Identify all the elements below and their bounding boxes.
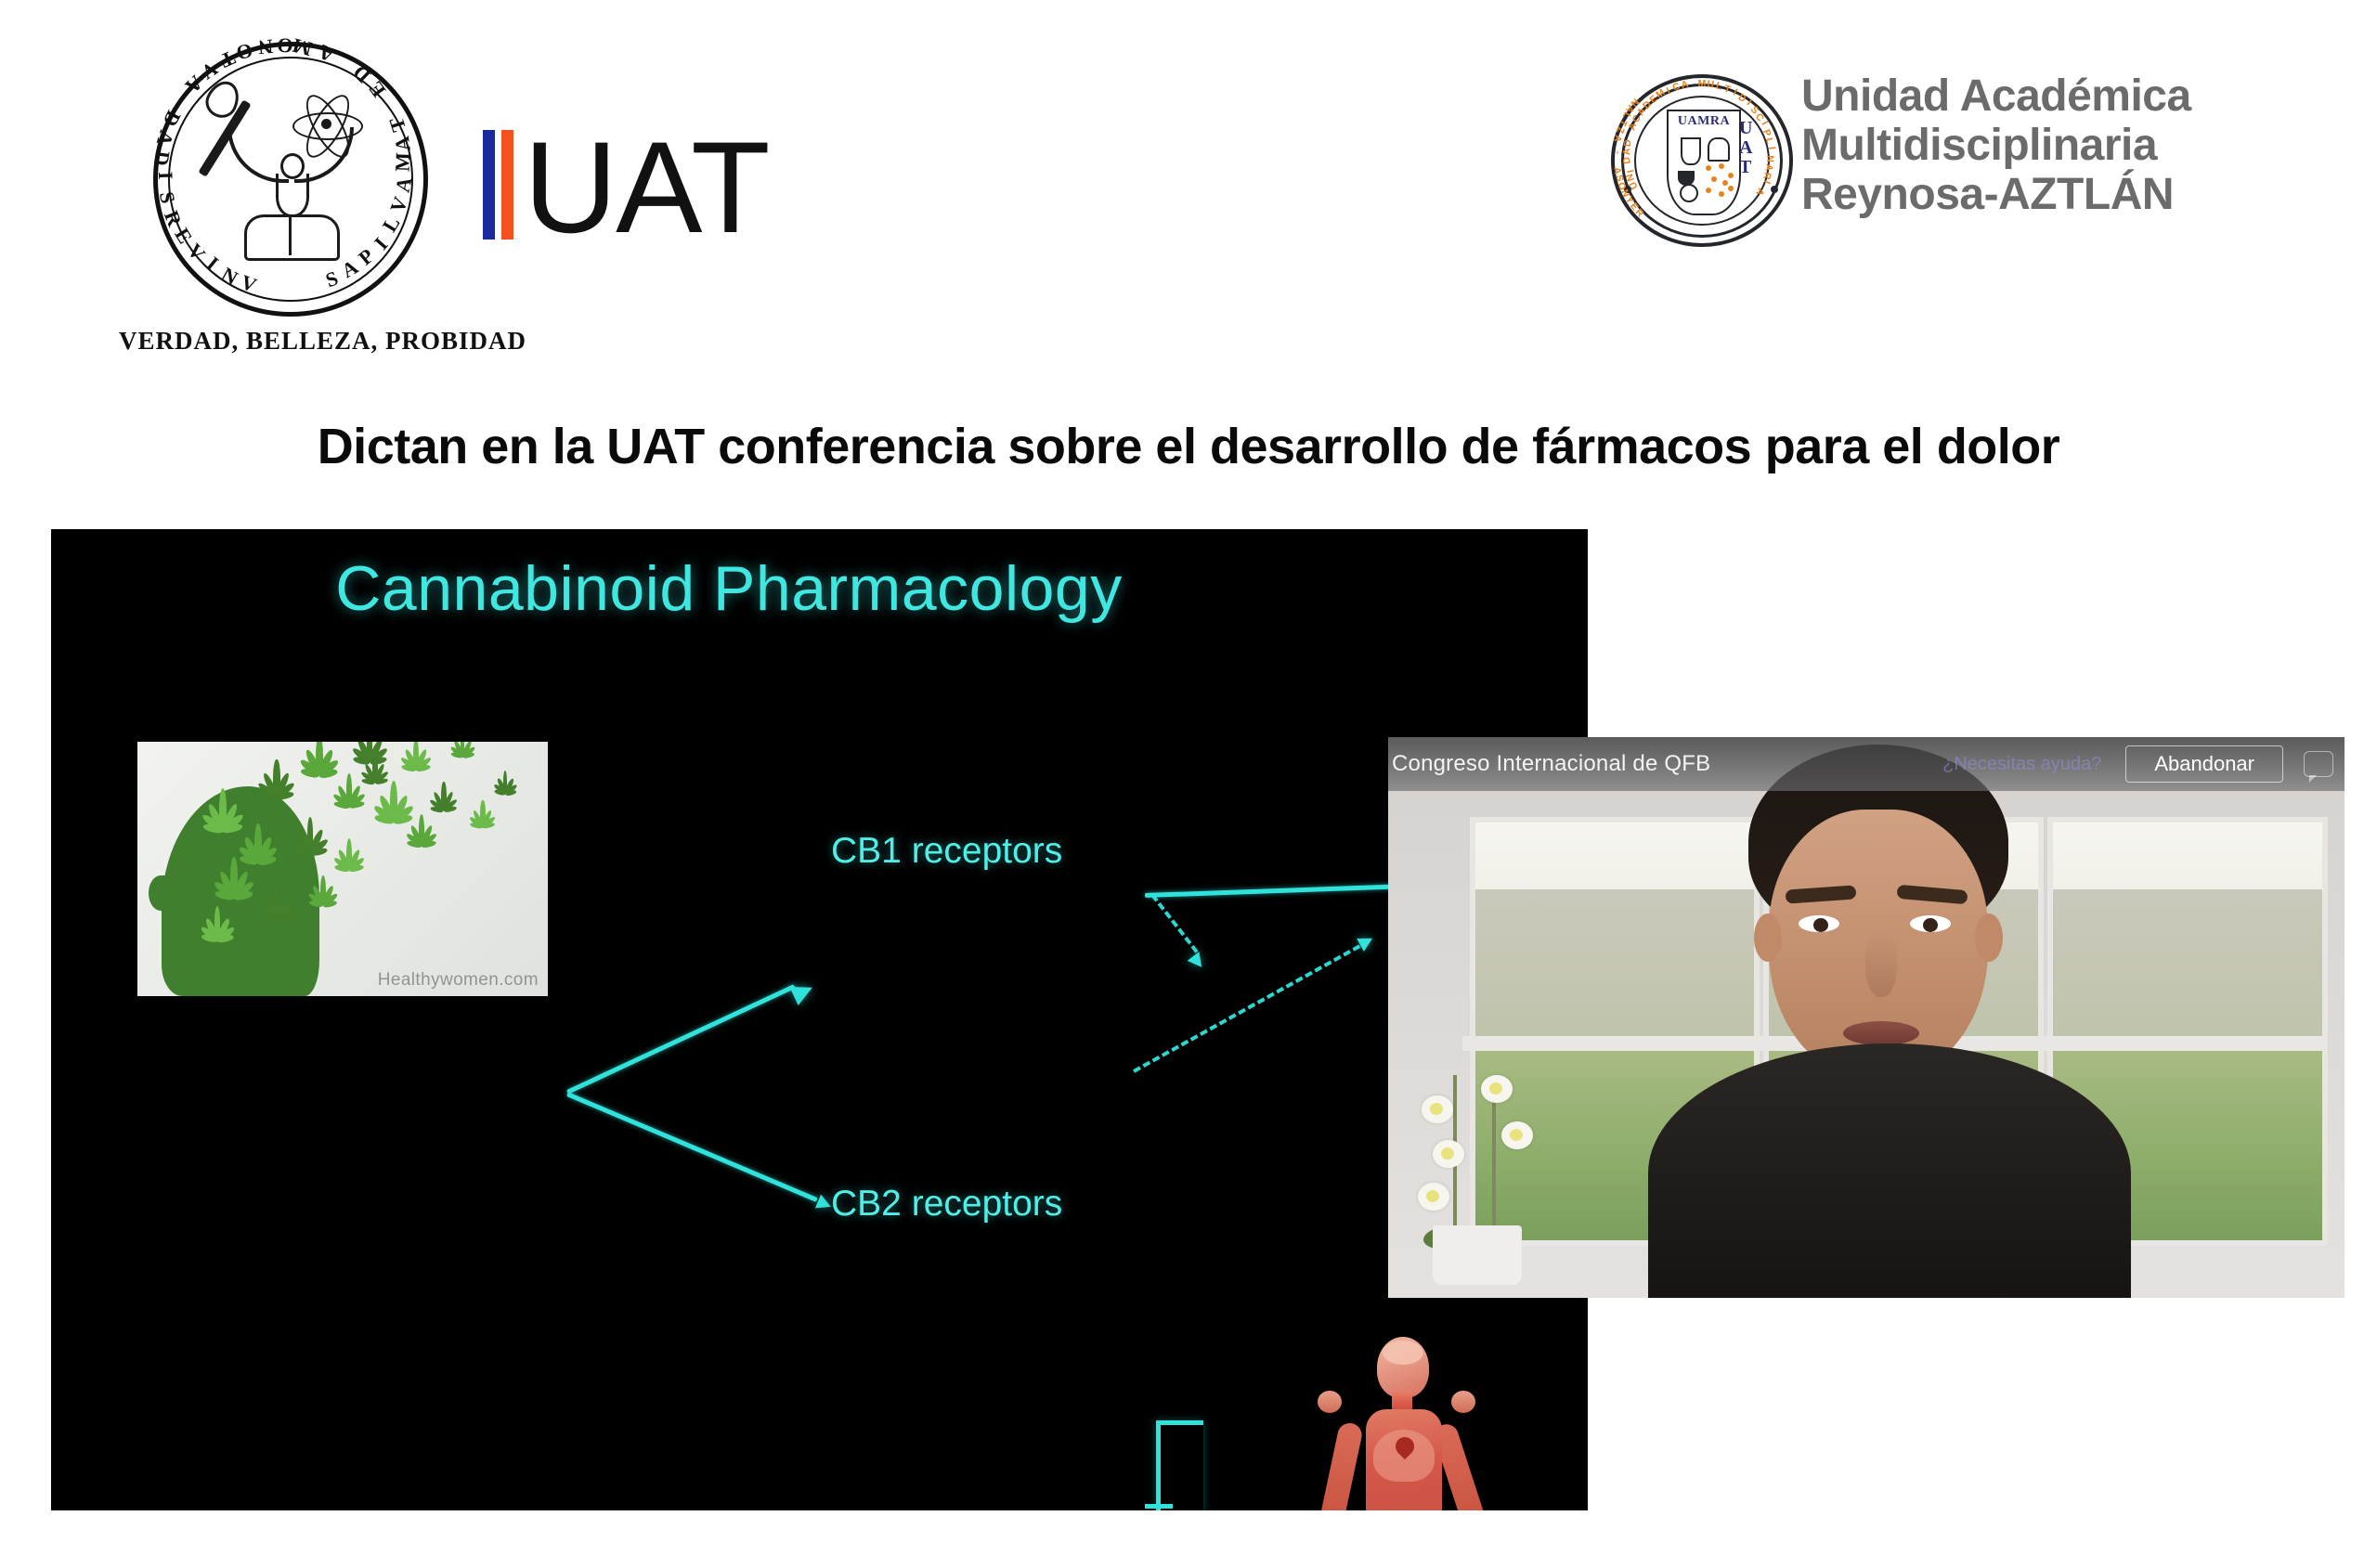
dashed-arrow-head-top bbox=[1188, 952, 1208, 972]
help-link[interactable]: ¿Necesitas ayuda? bbox=[1942, 754, 2101, 775]
chat-bubble-icon[interactable] bbox=[2304, 751, 2333, 777]
label-cb2-receptors: CB2 receptors bbox=[831, 1184, 1062, 1225]
participant-ear-left bbox=[1754, 914, 1782, 962]
magnifier-icon bbox=[1680, 184, 1698, 202]
video-top-bar: Congreso Internacional de QFB ¿Necesitas… bbox=[1388, 737, 2345, 791]
uamra-arc-letter: D bbox=[1621, 156, 1633, 164]
uamra-arc-letter: N bbox=[1764, 155, 1775, 162]
participant-nose bbox=[1865, 928, 1897, 997]
uamra-dot-right bbox=[1771, 186, 1778, 193]
anatomy-brain bbox=[1383, 1341, 1423, 1365]
iuat-wordmark: UAT bbox=[524, 130, 769, 244]
image-watermark: Healthywomen.com bbox=[378, 970, 539, 991]
seal-ring-letter: D bbox=[149, 149, 175, 167]
participant-video-avatar bbox=[1667, 737, 2103, 1298]
arrow-line-cb1 bbox=[566, 984, 796, 1095]
uamra-arc-letter: D bbox=[1622, 139, 1634, 148]
page-header: VNIVERSIDADAVTONOMADETAMAVLIPAS VERDAD, … bbox=[0, 0, 2377, 390]
seal-figure-body bbox=[276, 174, 309, 217]
iuat-logo: UAT bbox=[483, 130, 769, 241]
uat-university-seal: VNIVERSIDADAVTONOMADETAMAVLIPAS bbox=[153, 42, 432, 320]
uamra-arc-letter: A bbox=[1611, 166, 1623, 175]
participant-pupil-left bbox=[1813, 918, 1828, 932]
presentation-slide: Cannabinoid Pharmacology Healthywomen.co… bbox=[51, 529, 1588, 1510]
uamra-shield-label: UAMRA bbox=[1669, 114, 1739, 129]
anatomy-fist-left bbox=[1318, 1391, 1342, 1413]
arrow-head-cb1 bbox=[789, 978, 816, 1005]
arrow-line-cb2 bbox=[566, 1092, 818, 1202]
label-cb1-receptors: CB1 receptors bbox=[831, 831, 1062, 872]
logo-bar-orange bbox=[501, 130, 513, 240]
uamra-seal: UAMRA UAT UNIDADACADEMICAMULTIDISCIPLINA… bbox=[1611, 74, 1797, 251]
brace-tick bbox=[1145, 1504, 1173, 1509]
seal-ring-letter: A bbox=[390, 135, 416, 152]
flask-icon bbox=[1681, 137, 1701, 165]
video-conference-panel[interactable]: Congreso Internacional de QFB ¿Necesitas… bbox=[1388, 737, 2345, 1298]
anatomy-figure bbox=[1306, 1337, 1492, 1510]
unit-name-line-1: Unidad Académica bbox=[1801, 72, 2377, 122]
open-book-icon bbox=[244, 214, 337, 255]
cannabis-head-image: Healthywomen.com bbox=[135, 739, 551, 999]
participant-shirt bbox=[1648, 1043, 2131, 1298]
arrow-line-body-top bbox=[1145, 884, 1423, 898]
burner-icon bbox=[1708, 137, 1730, 162]
unit-name-block: Unidad Académica Multidisciplinaria Reyn… bbox=[1801, 72, 2377, 219]
anatomy-fist-right bbox=[1451, 1391, 1475, 1413]
plant-pot bbox=[1433, 1225, 1522, 1285]
participant-ear-right bbox=[1975, 914, 2003, 962]
uamra-arc-letter: M bbox=[1698, 78, 1707, 89]
meeting-title: Congreso Internacional de QFB bbox=[1392, 751, 1710, 777]
seal-motto: VERDAD, BELLEZA, PROBIDAD bbox=[119, 327, 472, 356]
anatomy-arm-left bbox=[1318, 1421, 1364, 1510]
orchid-plant bbox=[1412, 1043, 1589, 1285]
dashed-arrow-head-mid bbox=[1357, 932, 1376, 952]
molecule-icon bbox=[1704, 163, 1734, 197]
seal-ring-letter: N bbox=[257, 34, 274, 59]
slide-title: Cannabinoid Pharmacology bbox=[51, 552, 1407, 625]
participant-pupil-right bbox=[1923, 918, 1938, 932]
dashed-line-body-mid bbox=[1133, 940, 1370, 1073]
uamra-arc-letter: U bbox=[1707, 79, 1715, 91]
seal-ring-letter: M bbox=[391, 152, 416, 173]
uamra-arc-letter: - bbox=[1612, 150, 1623, 154]
brace-bracket bbox=[1156, 1420, 1203, 1510]
uamra-shield: UAMRA bbox=[1667, 110, 1741, 215]
unit-name-line-2: Multidisciplinaria bbox=[1801, 122, 2377, 171]
leave-button[interactable]: Abandonar bbox=[2125, 745, 2283, 783]
logo-bar-blue bbox=[483, 130, 495, 240]
seal-ring-letter: I bbox=[153, 171, 177, 180]
unit-name-line-3: Reynosa-AZTLÁN bbox=[1801, 171, 2377, 220]
participant-mouth bbox=[1843, 1021, 1919, 1045]
uamra-uat-vertical: UAT bbox=[1739, 119, 1753, 177]
webcam-background bbox=[1388, 737, 2345, 1298]
uamra-arc-letter: A bbox=[1763, 163, 1775, 172]
page-title: Dictan en la UAT conferencia sobre el de… bbox=[0, 418, 2377, 475]
dashed-line-body-top bbox=[1150, 894, 1198, 953]
